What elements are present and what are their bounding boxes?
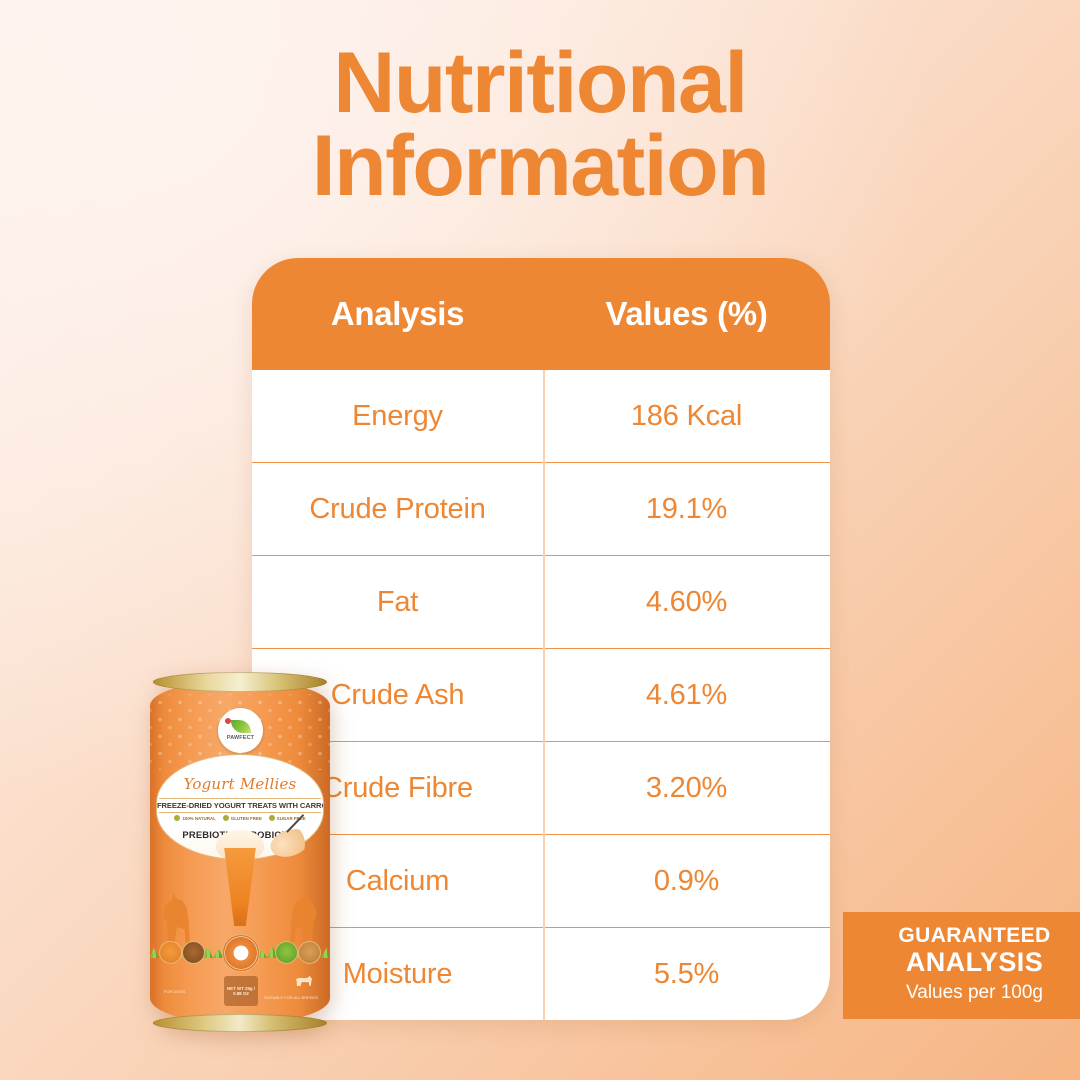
label-rule-bottom xyxy=(159,812,321,813)
can-body: PAWFECT Yogurt Mellies FREEZE-DRIED YOGU… xyxy=(150,680,330,1024)
product-can-image: PAWFECT Yogurt Mellies FREEZE-DRIED YOGU… xyxy=(150,672,330,1032)
badge-line-values-per-100g: Values per 100g xyxy=(906,980,1043,1006)
can-lid-top xyxy=(153,672,327,692)
ingredient-nut-icon xyxy=(298,941,321,964)
page-title: Nutritional Information xyxy=(0,42,1080,209)
feeding-note: FOR DOGS xyxy=(164,989,185,994)
cell-value: 3.20% xyxy=(543,772,830,805)
label-rule-top xyxy=(159,798,321,799)
carrot-icon xyxy=(222,848,258,926)
ingredient-carrot-icon xyxy=(159,941,182,964)
cell-value: 186 Kcal xyxy=(543,400,830,433)
table-row: Crude Protein 19.1% xyxy=(252,462,830,555)
dog-icon xyxy=(296,975,312,986)
table-header-values: Values (%) xyxy=(543,295,830,333)
ingredient-herb-icon xyxy=(275,941,298,964)
dog-silhouette-left-icon xyxy=(162,890,196,946)
table-row: Fat 4.60% xyxy=(252,555,830,648)
claim-item: GLUTEN FREE xyxy=(223,815,262,821)
suitable-note: SUITABLE FOR ALL BREEDS xyxy=(264,995,318,1000)
cell-value: 4.61% xyxy=(543,679,830,712)
gluten-free-icon xyxy=(223,815,229,821)
nutrition-table: Analysis Values (%) Energy 186 Kcal Crud… xyxy=(252,258,830,1020)
table-row: Energy 186 Kcal xyxy=(252,370,830,462)
badge-line-analysis: ANALYSIS xyxy=(906,948,1043,977)
quality-seal-icon xyxy=(222,934,260,972)
cell-value: 4.60% xyxy=(543,586,830,619)
table-row: Moisture 5.5% xyxy=(252,927,830,1020)
brand-logo: PAWFECT xyxy=(218,708,263,753)
badge-line-guaranteed: GUARANTEED xyxy=(898,925,1050,948)
cell-analysis: Energy xyxy=(252,400,543,433)
cell-analysis: Fat xyxy=(252,586,543,619)
cell-value: 19.1% xyxy=(543,493,830,526)
page-title-line-2: Information xyxy=(0,125,1080,208)
table-header-row: Analysis Values (%) xyxy=(252,258,830,370)
claim-label: GLUTEN FREE xyxy=(231,816,262,821)
table-row: Crude Ash 4.61% xyxy=(252,648,830,741)
brand-logo-text: PAWFECT xyxy=(227,735,254,741)
table-column-divider xyxy=(543,370,545,1020)
cell-analysis: Crude Protein xyxy=(252,493,543,526)
product-tagline: FREEZE-DRIED YOGURT TREATS WITH CARROT xyxy=(157,801,323,810)
net-weight-label: NET WT 25g / 0.88 OZ xyxy=(224,976,258,1006)
page-title-line-1: Nutritional xyxy=(0,42,1080,125)
claim-item: 100% NATURAL xyxy=(174,815,215,821)
claim-label: 100% NATURAL xyxy=(182,816,215,821)
table-row: Crude Fibre 3.20% xyxy=(252,741,830,834)
table-row: Calcium 0.9% xyxy=(252,834,830,927)
dog-silhouette-right-icon xyxy=(284,890,318,946)
table-header-analysis: Analysis xyxy=(252,295,543,333)
table-body: Energy 186 Kcal Crude Protein 19.1% Fat … xyxy=(252,370,830,1020)
wheat-icon xyxy=(174,815,180,821)
nutritional-information-poster: Nutritional Information GUARANTEED ANALY… xyxy=(0,0,1080,1080)
sugar-free-icon xyxy=(269,815,275,821)
can-lid-bottom xyxy=(153,1014,327,1032)
leaf-icon xyxy=(231,720,251,733)
cell-value: 0.9% xyxy=(543,865,830,898)
ingredient-treat-icon xyxy=(182,941,205,964)
product-name: Yogurt Mellies xyxy=(157,775,323,793)
guaranteed-analysis-badge: GUARANTEED ANALYSIS Values per 100g xyxy=(843,912,1080,1019)
cell-value: 5.5% xyxy=(543,958,830,991)
